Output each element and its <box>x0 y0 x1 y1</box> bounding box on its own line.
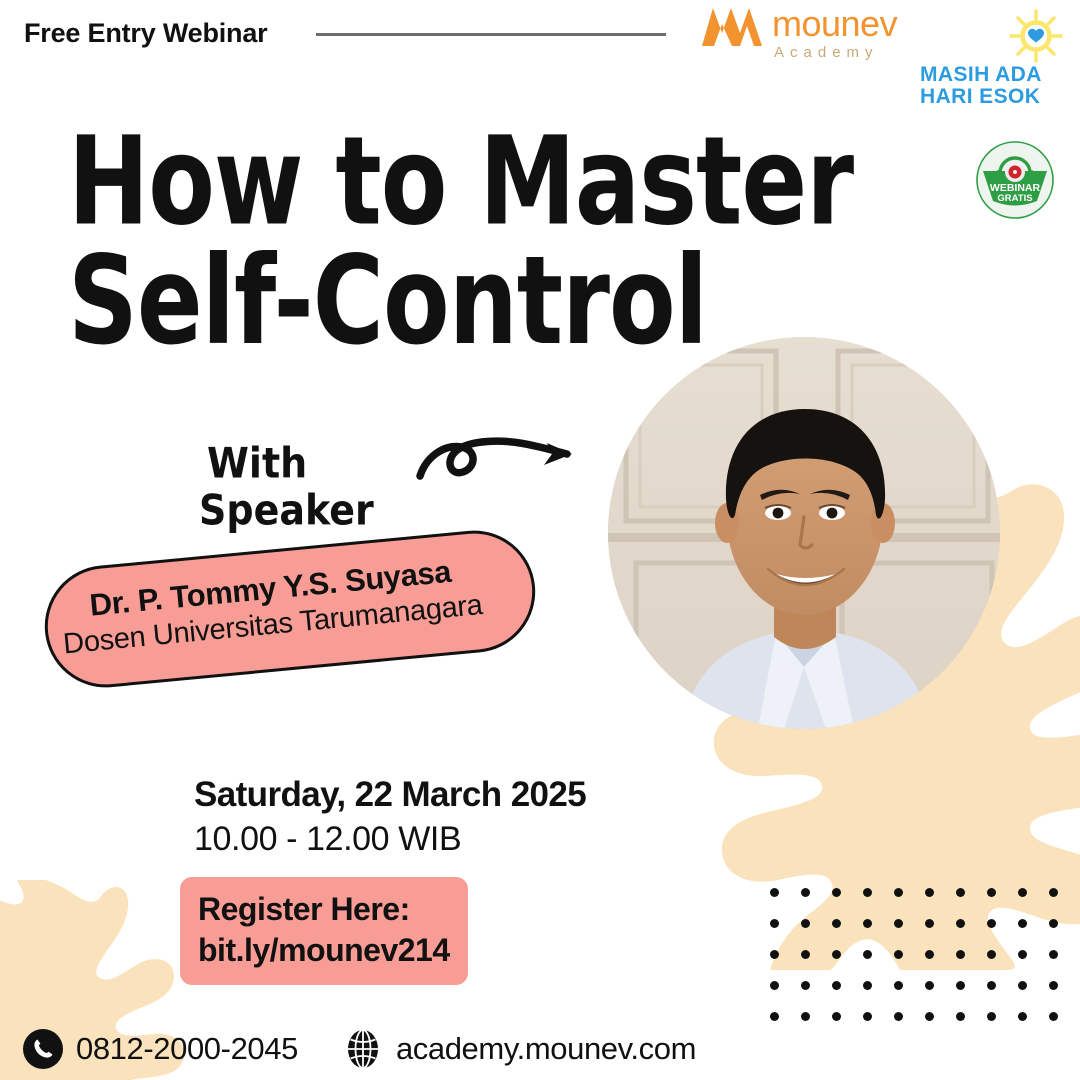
badge-line2: GRATIS <box>997 193 1032 204</box>
globe-icon <box>342 1028 384 1070</box>
grid-dot <box>770 888 779 897</box>
curved-loop-arrow-icon <box>415 432 580 494</box>
grid-dot <box>956 888 965 897</box>
poster-title: How to Master Self-Control <box>68 122 853 361</box>
grid-dot <box>894 919 903 928</box>
grid-dot <box>956 1012 965 1021</box>
title-line-1: How to Master <box>68 122 853 242</box>
grid-dot <box>894 888 903 897</box>
dot-grid-decoration <box>770 888 1060 1038</box>
sun-heart-icon <box>1008 8 1064 64</box>
grid-dot <box>987 950 996 959</box>
mounev-logo: mounev Academy <box>700 6 897 60</box>
grid-dot <box>925 981 934 990</box>
grid-dot <box>956 981 965 990</box>
contact-phone[interactable]: 0812-2000-2045 <box>22 1028 298 1070</box>
register-link[interactable]: bit.ly/mounev214 <box>198 930 450 971</box>
grid-dot <box>801 950 810 959</box>
grid-dot <box>832 981 841 990</box>
grid-dot <box>1018 950 1027 959</box>
brand-subtitle: Academy <box>774 45 897 60</box>
brand-name: mounev <box>772 6 897 42</box>
website-url: academy.mounev.com <box>396 1031 696 1067</box>
grid-dot <box>863 888 872 897</box>
partner-tagline-line1: MASIH ADA <box>920 64 1042 86</box>
grid-dot <box>956 950 965 959</box>
grid-dot <box>987 919 996 928</box>
grid-dot <box>863 1012 872 1021</box>
grid-dot <box>925 1012 934 1021</box>
footer-contacts: 0812-2000-2045 academy.mounev.com <box>22 1028 696 1070</box>
partner-tagline-line2: HARI ESOK <box>920 86 1042 108</box>
grid-dot <box>925 950 934 959</box>
with-speaker-line-2: Speaker <box>199 487 374 534</box>
register-box[interactable]: Register Here: bit.ly/mounev214 <box>180 877 468 985</box>
webinar-poster: Free Entry Webinar mounev Academy <box>0 0 1080 1080</box>
grid-dot <box>832 888 841 897</box>
event-time: 10.00 - 12.00 WIB <box>194 820 461 859</box>
grid-dot <box>894 981 903 990</box>
webinar-gratis-badge: WEBINAR GRATIS <box>975 140 1055 220</box>
phone-icon <box>22 1028 64 1070</box>
grid-dot <box>832 919 841 928</box>
grid-dot <box>863 919 872 928</box>
with-speaker-line-1: With <box>207 440 374 487</box>
title-line-2: Self-Control <box>68 242 853 362</box>
grid-dot <box>801 981 810 990</box>
grid-dot <box>925 888 934 897</box>
event-date: Saturday, 22 March 2025 <box>194 775 586 815</box>
partner-tagline: MASIH ADA HARI ESOK <box>920 64 1042 109</box>
grid-dot <box>1049 950 1058 959</box>
with-speaker-label: With Speaker <box>207 440 374 534</box>
grid-dot <box>832 1012 841 1021</box>
phone-number: 0812-2000-2045 <box>76 1031 298 1067</box>
grid-dot <box>987 888 996 897</box>
grid-dot <box>894 950 903 959</box>
grid-dot <box>1049 919 1058 928</box>
grid-dot <box>1049 888 1058 897</box>
grid-dot <box>770 981 779 990</box>
grid-dot <box>1049 981 1058 990</box>
speaker-photo <box>608 337 1000 729</box>
mounev-zigzag-mark-icon <box>700 6 766 48</box>
speaker-banner: Dr. P. Tommy Y.S. Suyasa Dosen Universit… <box>39 525 540 693</box>
grid-dot <box>987 1012 996 1021</box>
grid-dot <box>987 981 996 990</box>
register-label: Register Here: <box>198 889 450 930</box>
grid-dot <box>956 919 965 928</box>
grid-dot <box>801 1012 810 1021</box>
grid-dot <box>1018 919 1027 928</box>
grid-dot <box>832 950 841 959</box>
grid-dot <box>770 950 779 959</box>
grid-dot <box>770 1012 779 1021</box>
grid-dot <box>894 1012 903 1021</box>
grid-dot <box>801 919 810 928</box>
grid-dot <box>1018 981 1027 990</box>
grid-dot <box>925 919 934 928</box>
page-kicker: Free Entry Webinar <box>24 18 267 49</box>
grid-dot <box>863 950 872 959</box>
grid-dot <box>1018 888 1027 897</box>
kicker-rule <box>316 33 666 36</box>
grid-dot <box>1018 1012 1027 1021</box>
grid-dot <box>770 919 779 928</box>
contact-website[interactable]: academy.mounev.com <box>342 1028 696 1070</box>
grid-dot <box>863 981 872 990</box>
grid-dot <box>801 888 810 897</box>
grid-dot <box>1049 1012 1058 1021</box>
